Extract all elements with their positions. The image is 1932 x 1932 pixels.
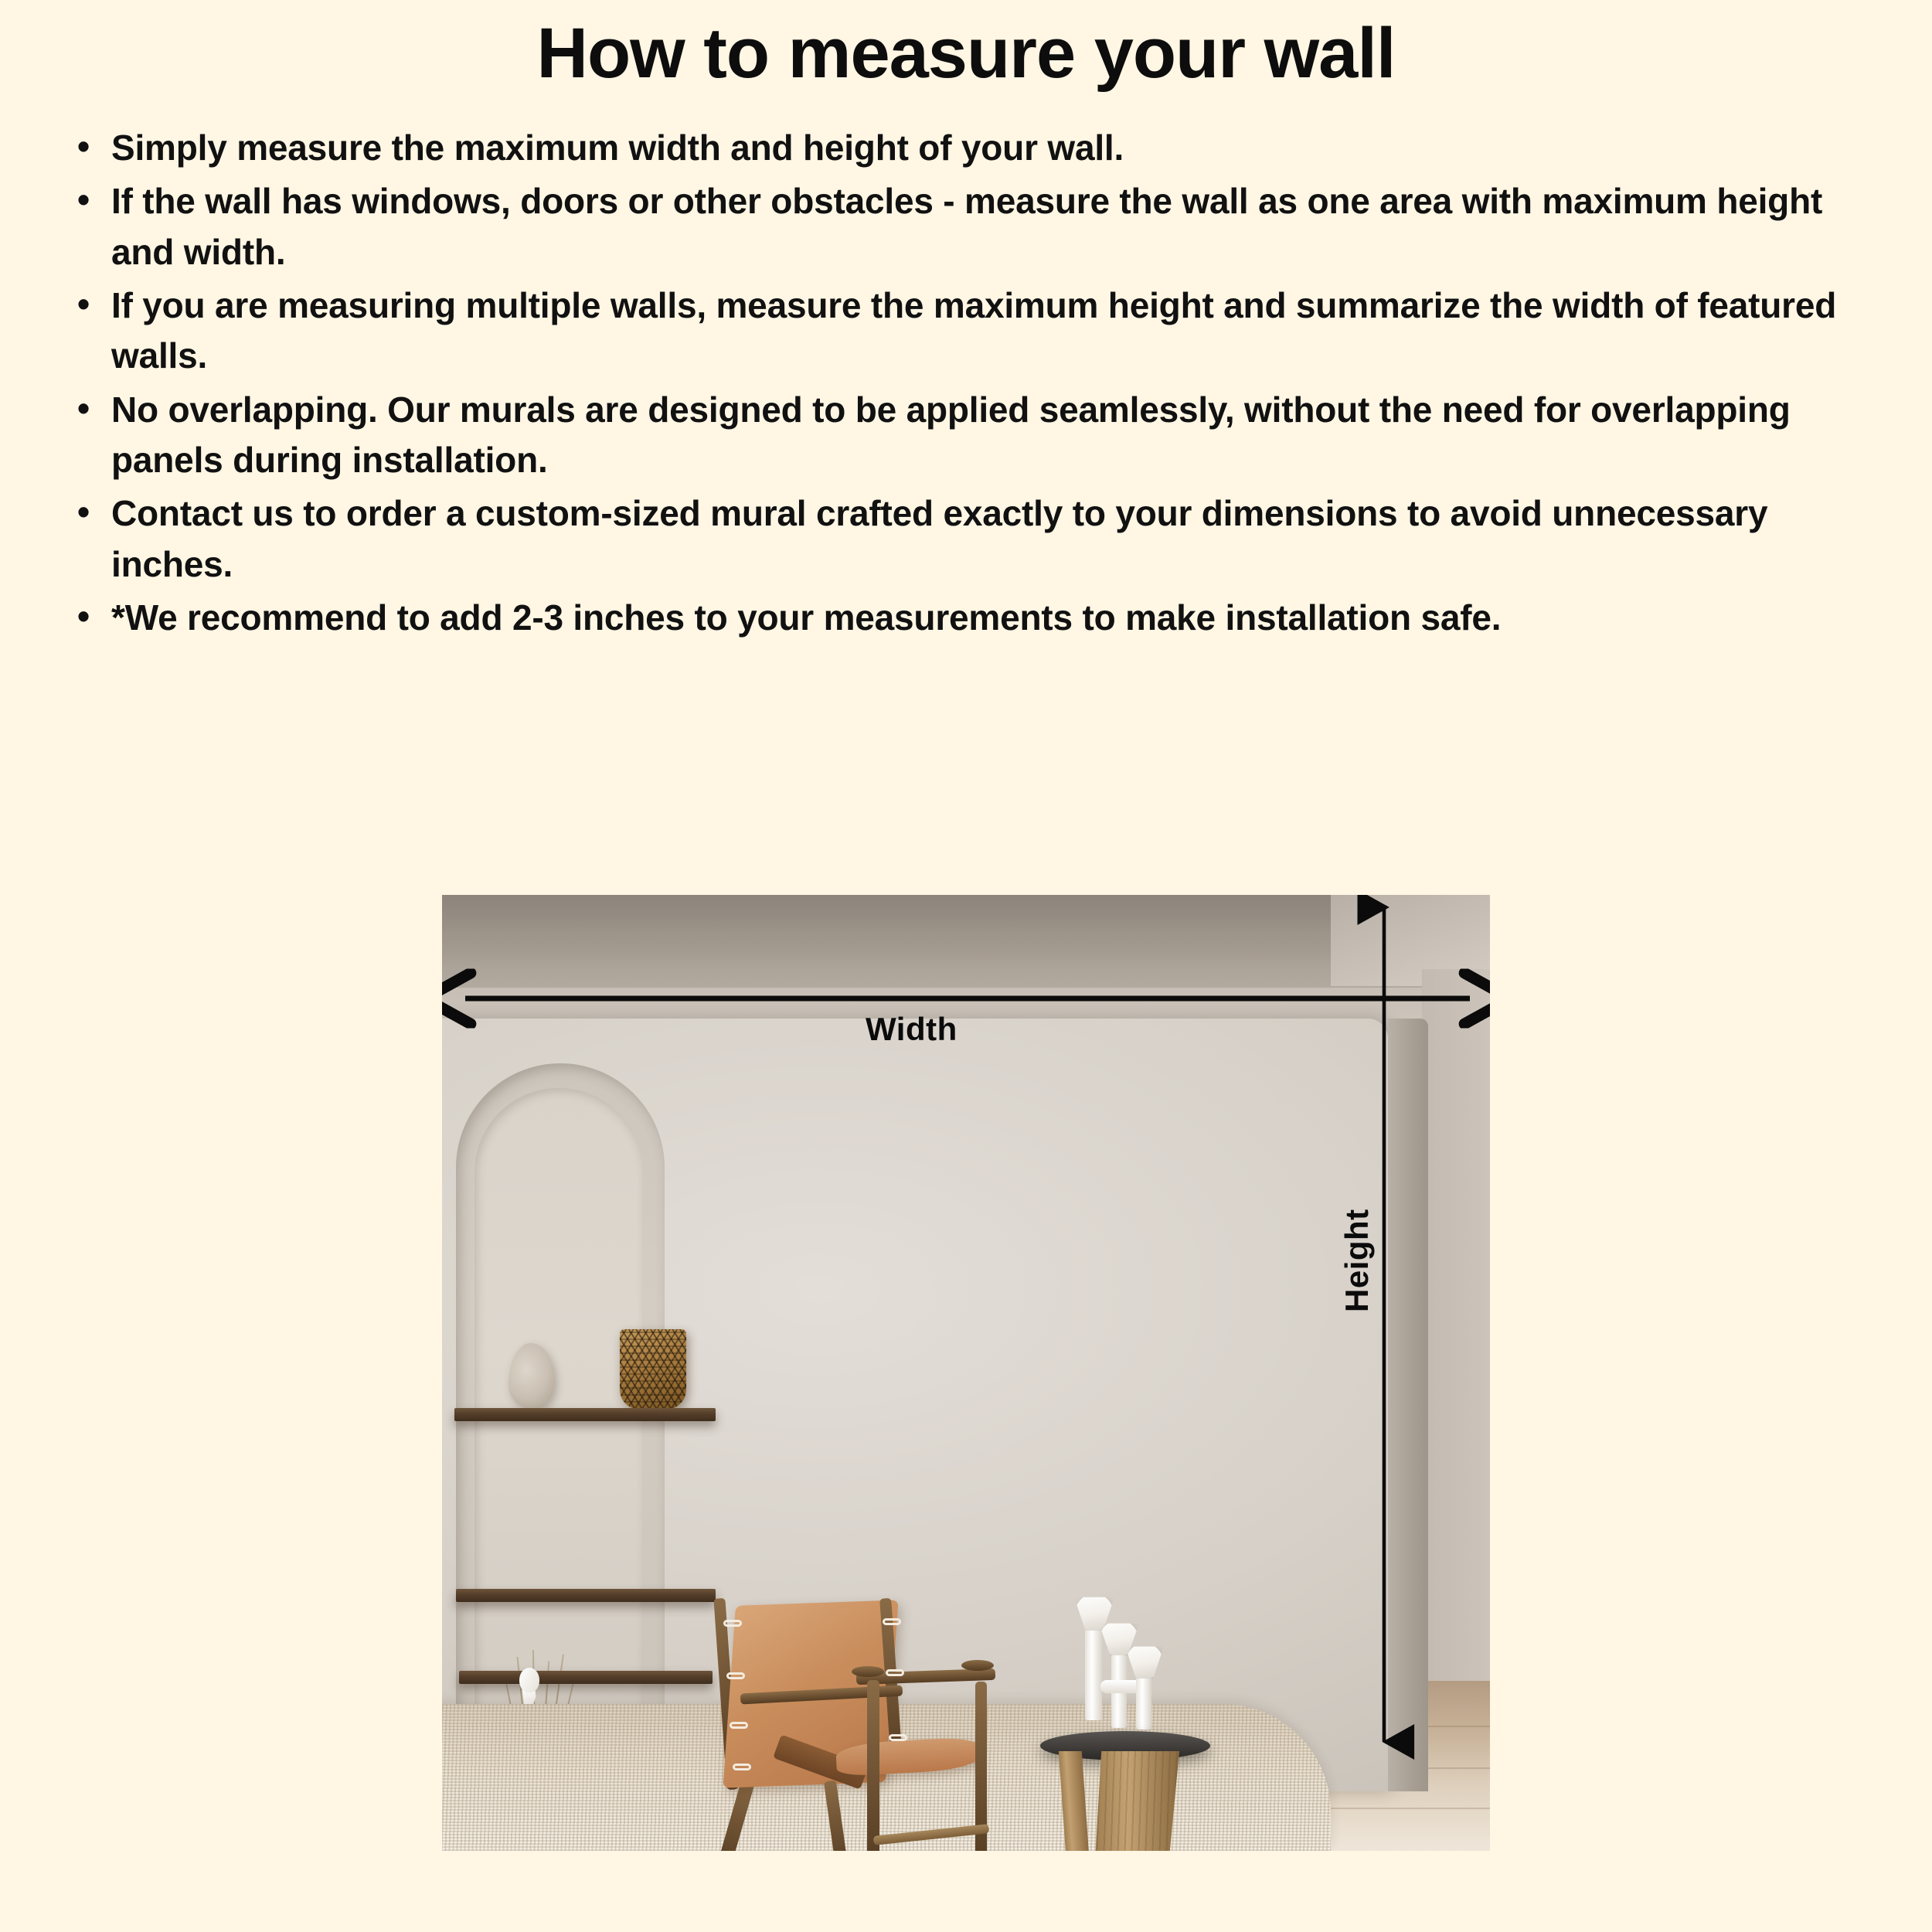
wall-shelf-bottom [459,1671,713,1684]
instruction-item: If the wall has windows, doors or other … [71,176,1861,277]
white-figure-head [519,1668,539,1692]
instructions-list: Simply measure the maximum width and hei… [71,123,1861,643]
round-side-table [1040,1683,1210,1851]
instruction-item: If you are measuring multiple walls, mea… [71,281,1861,382]
woven-basket [620,1329,686,1410]
page-title: How to measure your wall [0,0,1932,94]
instruction-item: Simply measure the maximum width and hei… [71,123,1861,173]
far-wall [1422,969,1490,1796]
wall-shelf-top [454,1408,716,1421]
height-label: Height [1338,1209,1376,1312]
room-photo-diagram: Width Height [442,895,1490,1851]
instruction-item: Contact us to order a custom-sized mural… [71,488,1861,590]
instruction-item: No overlapping. Our murals are designed … [71,385,1861,486]
wall-shelf-middle [456,1589,716,1602]
feature-wall-edge [1388,1019,1428,1791]
side-table-leg [1059,1751,1091,1851]
leather-sling-chair [683,1598,1015,1851]
side-table-base [1093,1751,1179,1851]
width-label: Width [866,1011,957,1048]
instruction-item: *We recommend to add 2-3 inches to your … [71,593,1861,643]
interior-scene [442,895,1490,1851]
